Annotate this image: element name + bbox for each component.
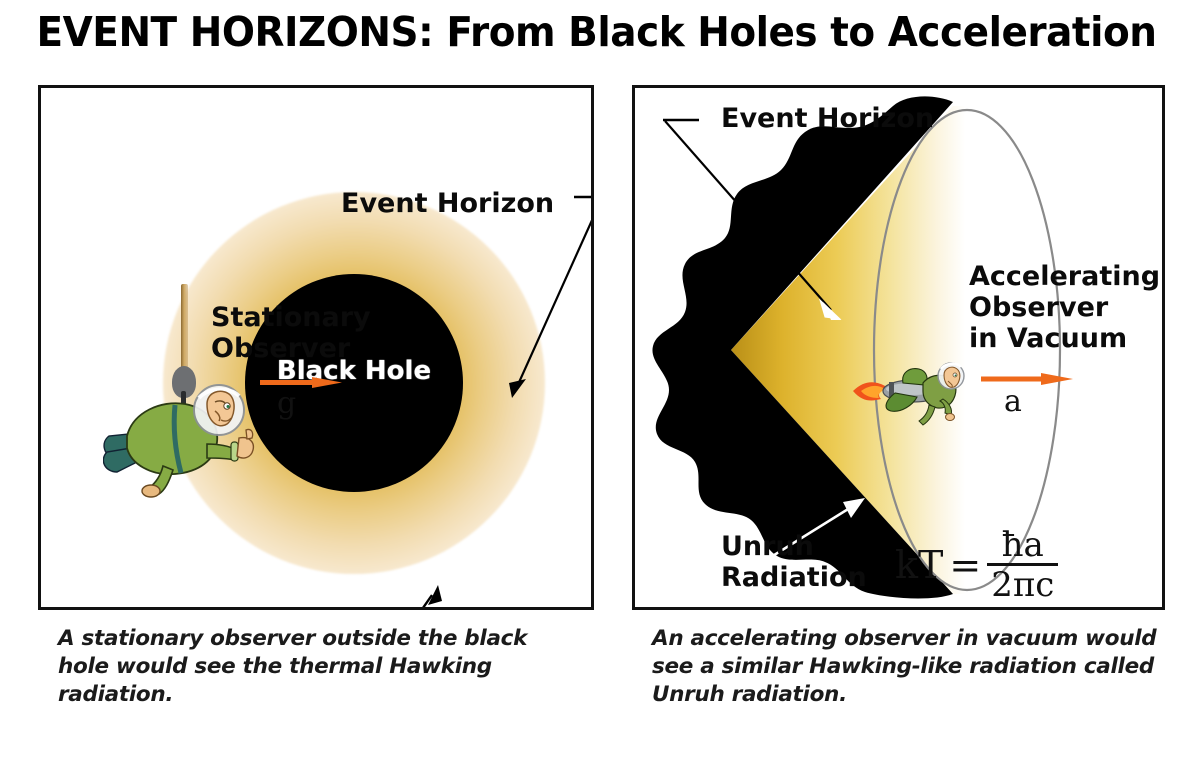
formula-lhs: kT [895, 543, 943, 587]
formula-equals: = [949, 543, 981, 587]
unruh-temperature-formula: kT = ħa 2πc [895, 528, 1058, 602]
stationary-observer-astronaut [103, 378, 273, 498]
formula-numerator: ħg [543, 608, 594, 610]
panel-acceleration: Event Horizon Accelerating Observer in V… [632, 85, 1165, 610]
formula-numerator: ħa [998, 528, 1048, 563]
event-horizon-leader-left [496, 193, 594, 408]
caption-right: An accelerating observer in vacuum would… [652, 625, 1172, 709]
gravity-arrow-label: g [277, 386, 296, 421]
formula-fraction: ħg 2πc [533, 608, 594, 610]
page-title: EVENT HORIZONS: From Black Holes to Acce… [30, 8, 1163, 56]
acceleration-arrow [981, 373, 1073, 385]
gravity-arrow [260, 377, 342, 388]
unruh-radiation-label: Unruh Radiation [721, 531, 867, 593]
formula-denominator: 2πc [987, 566, 1058, 602]
formula-fraction: ħa 2πc [987, 528, 1058, 602]
acceleration-arrow-label: a [1004, 384, 1022, 419]
tether-rope [181, 284, 188, 372]
stationary-observer-label: Stationary Observer [211, 302, 371, 364]
panel-black-hole: Black Hole g [38, 85, 594, 610]
caption-left: A stationary observer outside the black … [58, 625, 578, 709]
hawking-radiation-leader [366, 583, 446, 610]
event-horizon-label-right: Event Horizon [721, 103, 934, 134]
hawking-temperature-formula: kT = ħg 2πc [441, 608, 594, 610]
accelerating-observer-astronaut [851, 351, 973, 429]
accelerating-observer-label: Accelerating Observer in Vacuum [969, 261, 1160, 354]
